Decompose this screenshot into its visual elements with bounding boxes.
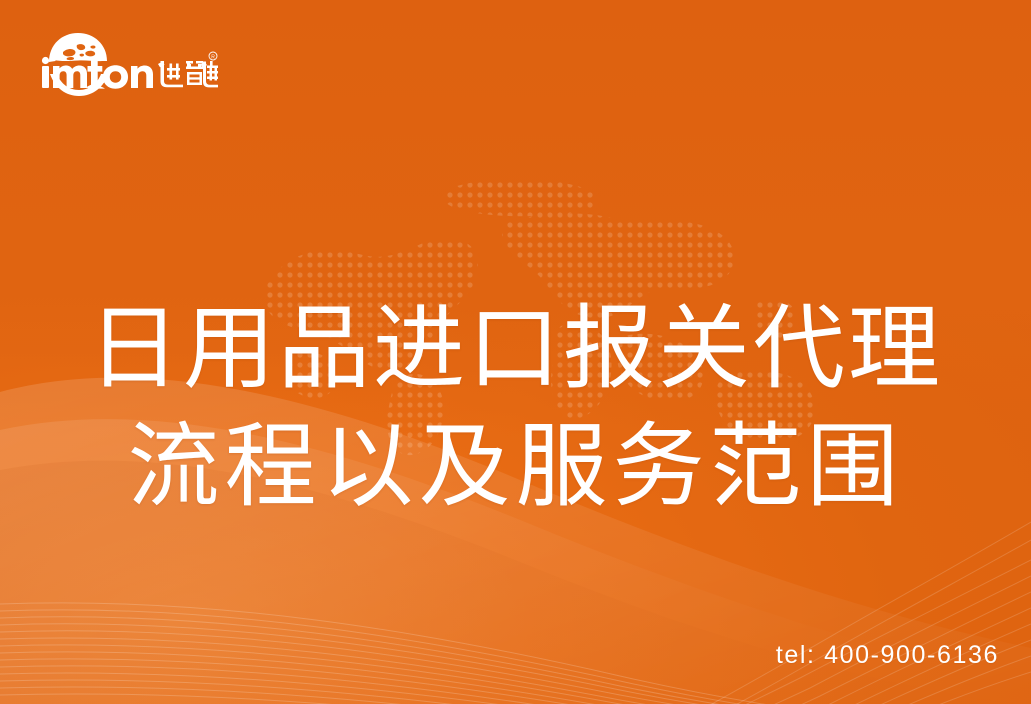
promo-banner: R 日用品进口报关代理 流程以及服务范围 tel: 400-900-6136 [0,0,1031,704]
registered-trademark-letter: R [211,54,215,60]
brand-logo[interactable]: R [38,30,218,102]
page-title: 日用品进口报关代理 流程以及服务范围 [0,290,1031,526]
logo-chinese-name [158,61,218,87]
contact-telephone[interactable]: tel: 400-900-6136 [776,641,999,670]
headline-line-2: 流程以及服务范围 [0,408,1031,526]
headline-line-1: 日用品进口报关代理 [0,290,1031,408]
logo-wordmark [42,57,153,89]
